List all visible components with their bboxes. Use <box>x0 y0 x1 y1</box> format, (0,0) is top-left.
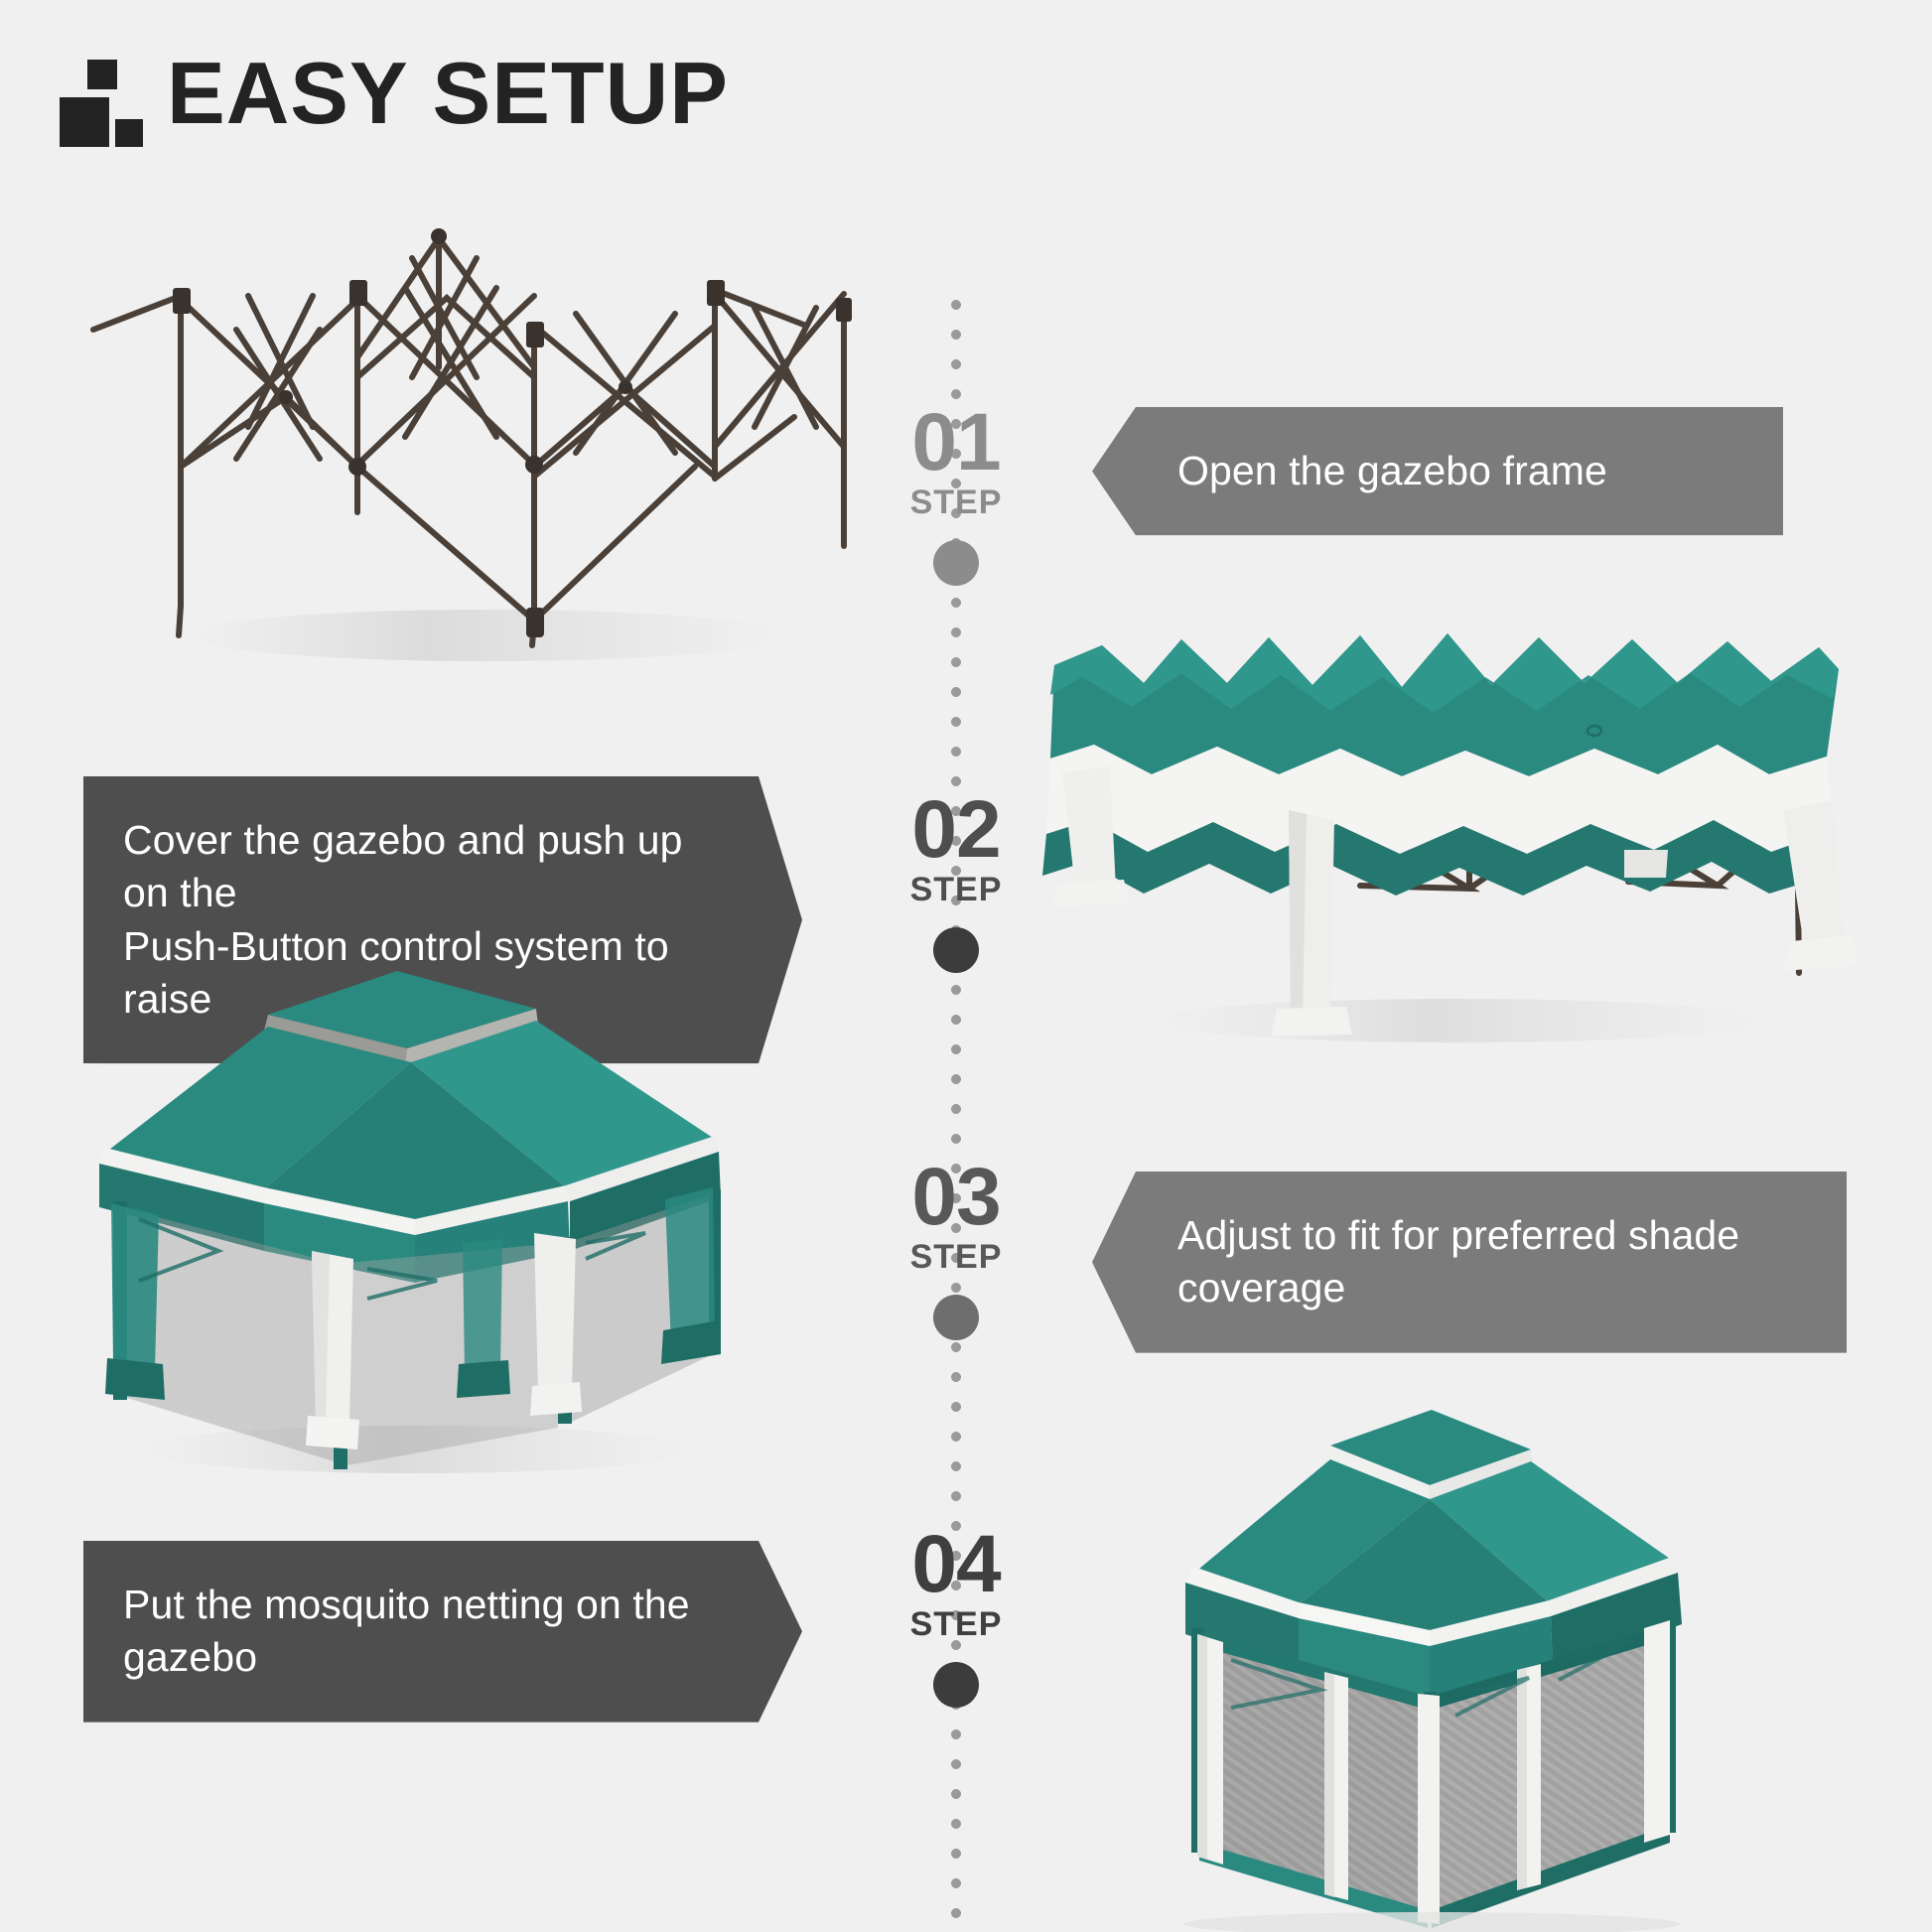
step-callout-01[interactable]: Open the gazebo frame <box>1092 407 1783 535</box>
timeline-dotted-line <box>949 298 963 1932</box>
step-callout-text-03: Adjust to fit for preferred shade covera… <box>1177 1209 1807 1315</box>
photo-gazebo-frame-open <box>60 218 874 675</box>
photo-gazebo-with-mosquito-netting <box>1082 1380 1777 1932</box>
photo-gazebo-raised-with-curtains <box>69 953 755 1479</box>
photo-gazebo-canopy-draped <box>1033 625 1866 1062</box>
step-callout-04[interactable]: Put the mosquito netting on the gazebo <box>83 1541 802 1723</box>
page-title-row: EASY SETUP <box>58 52 729 135</box>
step-callout-text-04: Put the mosquito netting on the gazebo <box>123 1579 717 1685</box>
page-title: EASY SETUP <box>167 52 729 135</box>
step-callout-03[interactable]: Adjust to fit for preferred shade covera… <box>1092 1172 1847 1353</box>
blocks-icon <box>58 58 141 135</box>
step-timeline <box>949 298 963 1932</box>
infographic-page: EASY SETUP 01 STEP Open the gazebo frame <box>0 0 1932 1932</box>
step-callout-text-01: Open the gazebo frame <box>1177 445 1607 497</box>
